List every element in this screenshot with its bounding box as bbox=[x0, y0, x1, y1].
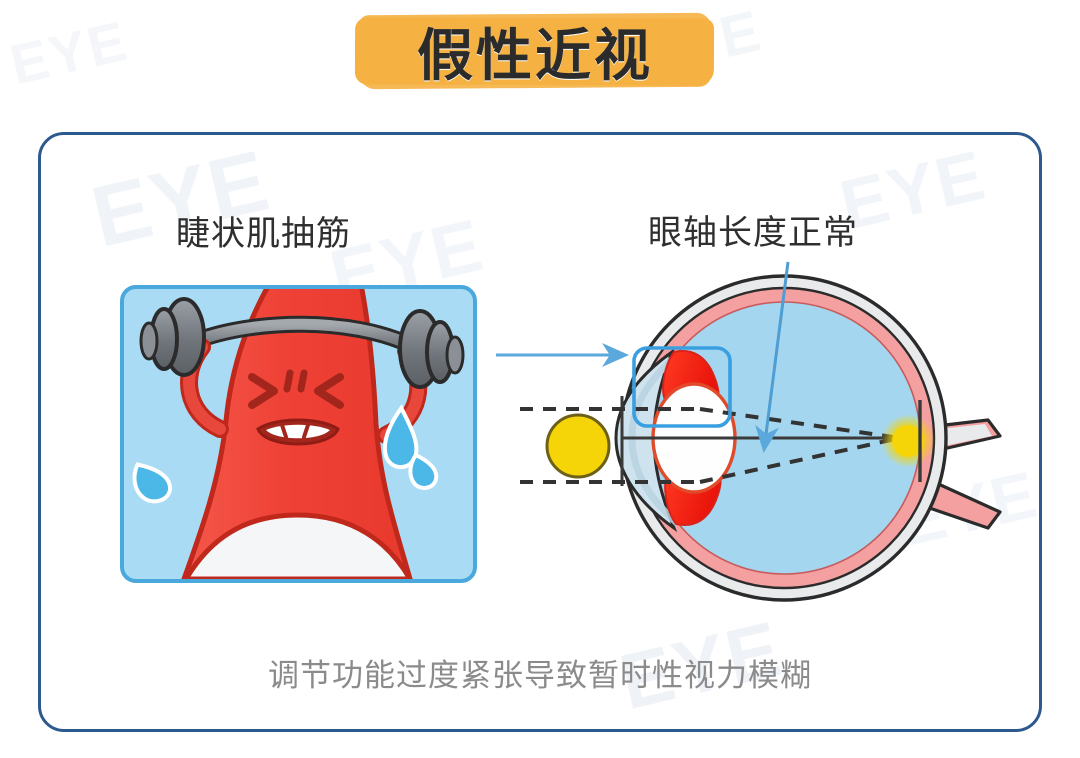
page-title-banner: 假性近视 bbox=[359, 8, 711, 94]
page-title: 假性近视 bbox=[359, 8, 711, 94]
label-axial-length: 眼轴长度正常 bbox=[648, 205, 858, 254]
caption-text: 调节功能过度紧张导致暂时性视力模糊 bbox=[0, 650, 1080, 695]
label-ciliary-muscle: 睫状肌抽筋 bbox=[176, 206, 351, 255]
watermark-eye: EYE bbox=[4, 8, 134, 98]
ciliary-muscle-cartoon-panel bbox=[120, 285, 477, 583]
muscle-character-illustration bbox=[124, 289, 473, 579]
